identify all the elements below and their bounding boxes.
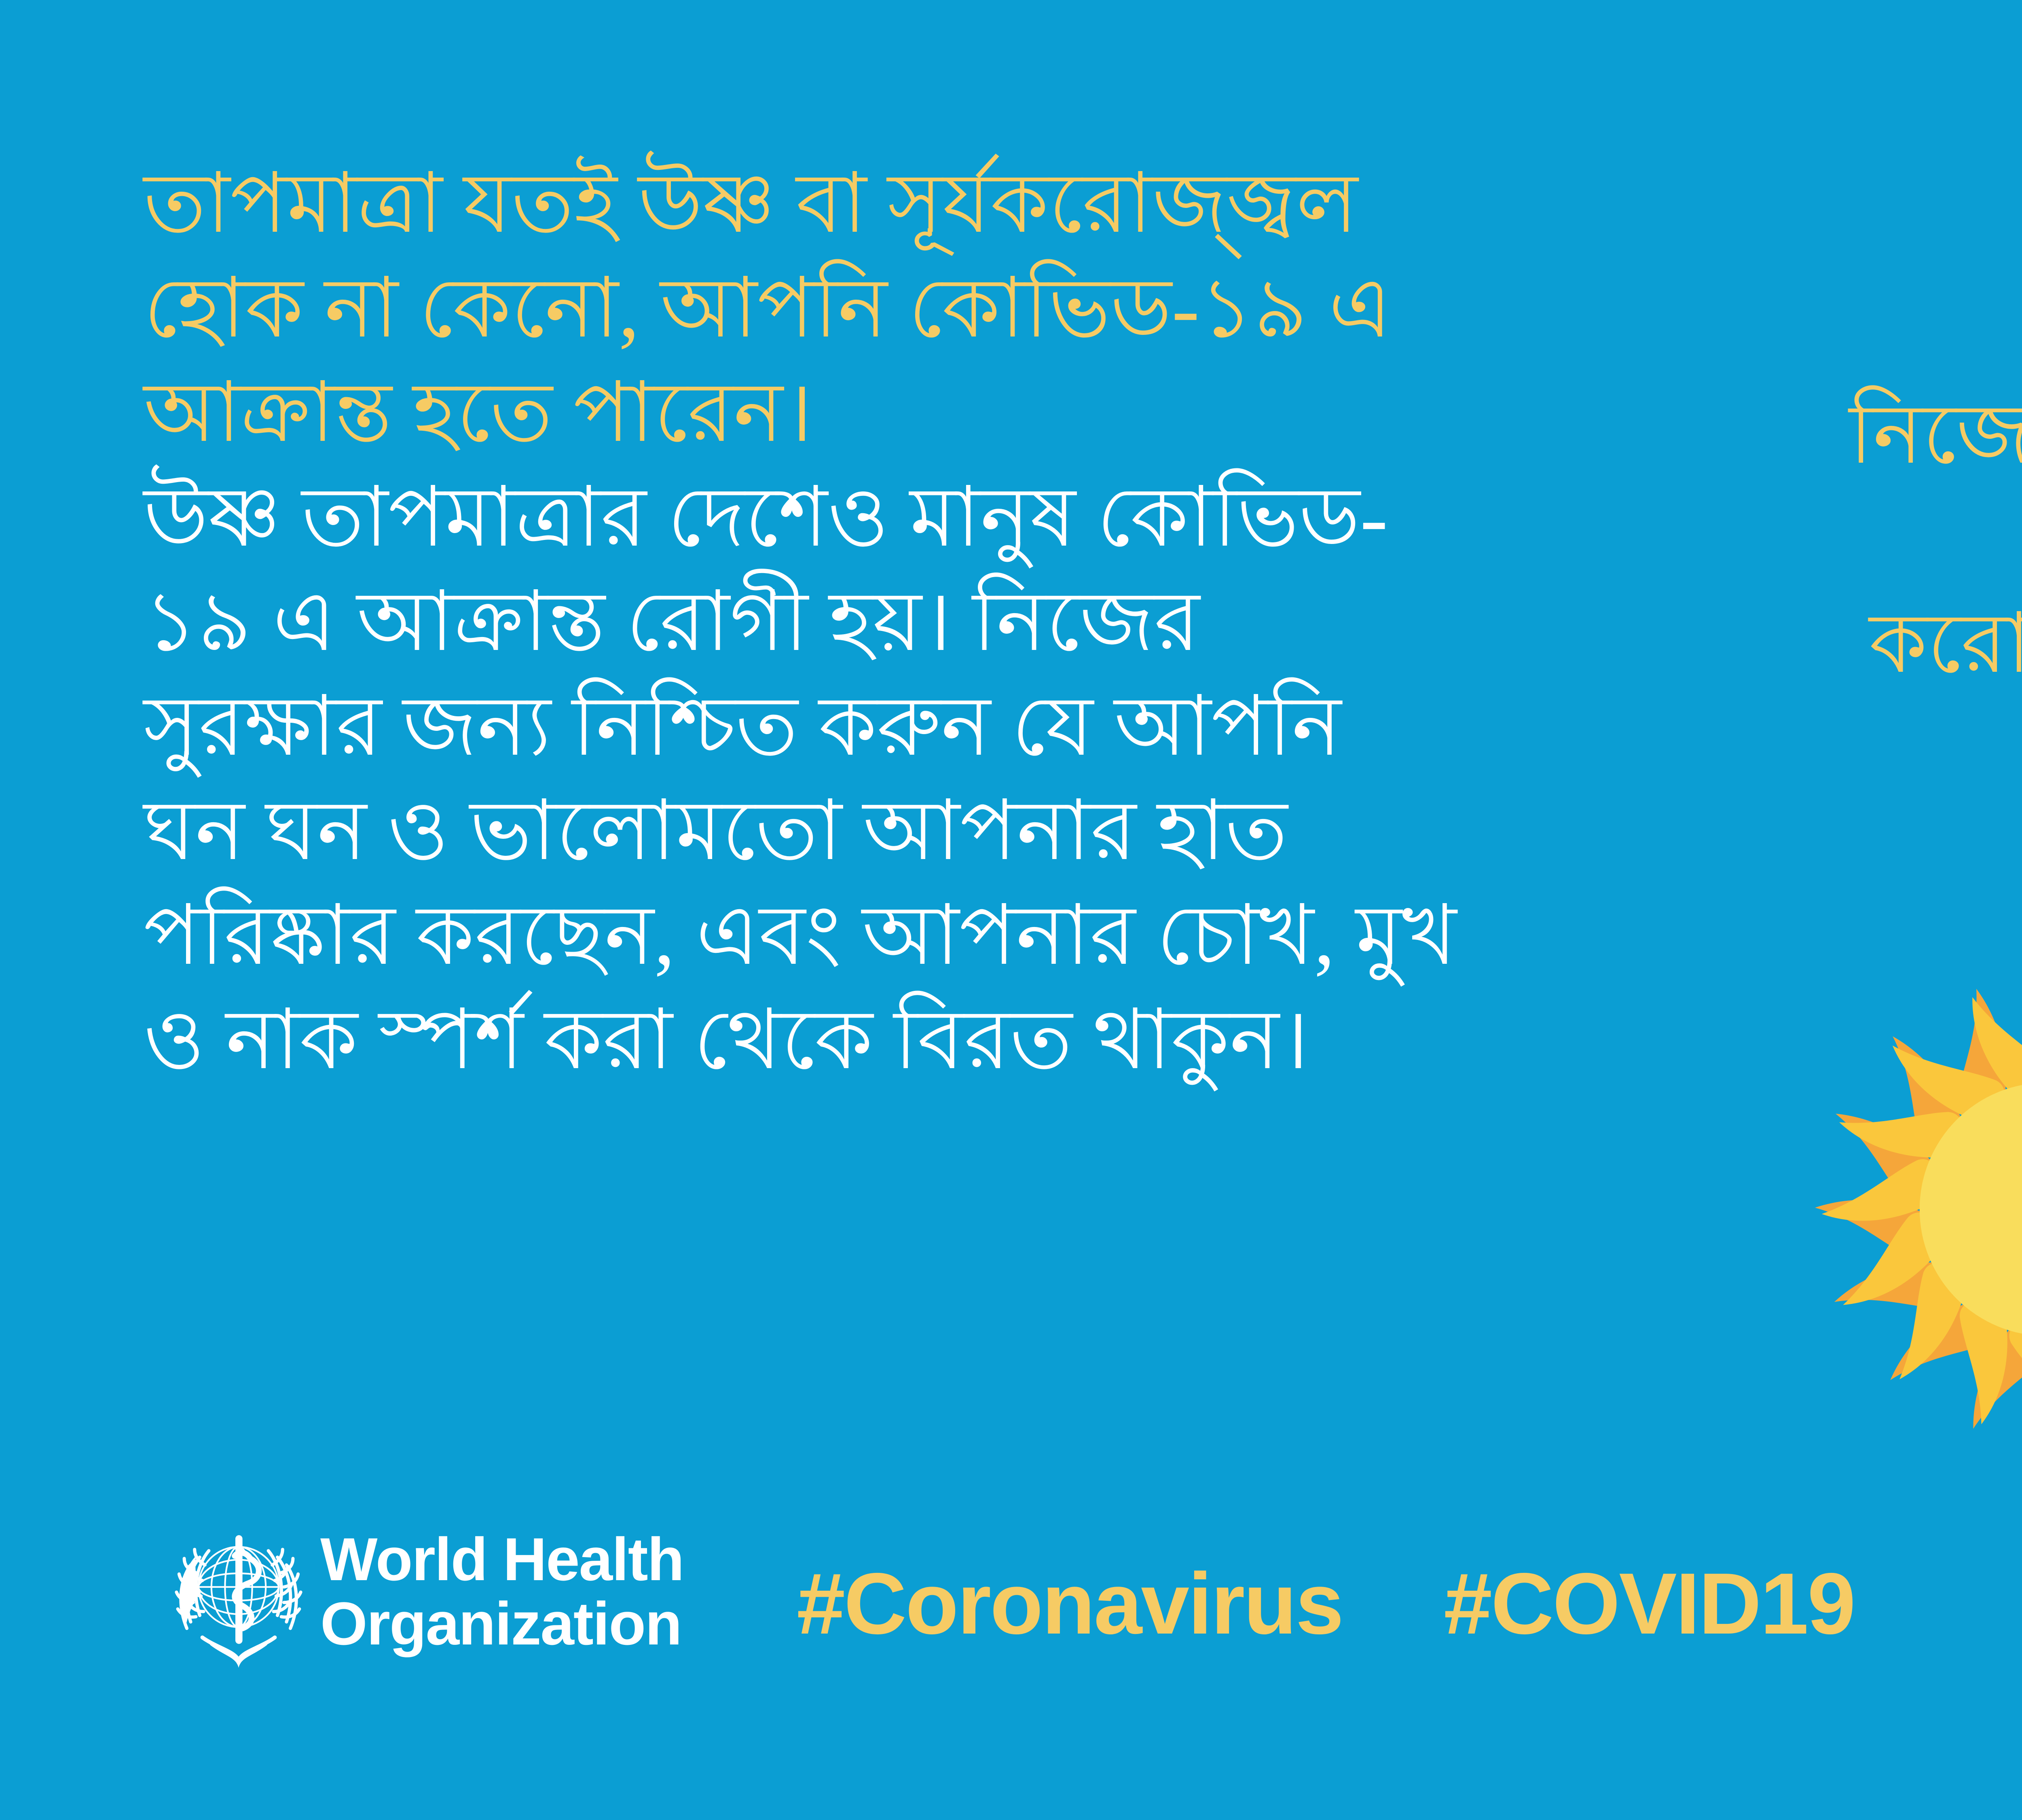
sun-icon [1812,975,2022,1444]
fact-line-2: তাপমাত্রার উপরে রাখলে [1666,487,2022,592]
myth-line-1: তাপমাত্রা যতই উষ্ণ বা সূর্যকরোজ্জ্বল [144,152,1680,256]
advice-line-2: ১৯ এ আক্রান্ত রোগী হয়। নিজের [144,570,1680,675]
footer: World Health Organization #Coronavirus #… [174,1505,1855,1678]
who-wordmark: World Health Organization [320,1527,683,1656]
advice-line-5: পরিষ্কার করছেন, এবং আপনার চোখ, মুখ [144,884,1680,988]
advice-line-1: উষ্ণ তাপমাত্রার দেশেও মানুষ কোভিড- [144,466,1680,570]
advice-line-6: ও নাক স্পর্শ করা থেকে বিরত থাকুন। [144,988,1680,1093]
right-text-column: সঠিক তথ্যঃ নিজেকে রোদের তাপে বা ২৫C ডিগ্… [1666,279,2022,801]
fact-heading: সঠিক তথ্যঃ [1666,279,2022,383]
who-covid-infographic: তাপমাত্রা যতই উষ্ণ বা সূর্যকরোজ্জ্বল হোক… [0,0,2022,1820]
hashtag-group: #Coronavirus #COVID19 [797,1529,1855,1654]
myth-line-2: হোক না কেনো, আপনি কোভিড-১৯ এ [144,256,1680,361]
who-emblem-icon [174,1511,303,1672]
who-logo: World Health Organization [174,1505,683,1678]
advice-line-3: সুরক্ষার জন্য নিশ্চিত করুন যে আপনি [144,675,1680,779]
hashtag-coronavirus[interactable]: #Coronavirus [797,1553,1343,1654]
fact-line-1: নিজেকে রোদের তাপে বা ২৫C ডিগ্রীর [1666,383,2022,487]
left-text-column: তাপমাত্রা যতই উষ্ণ বা সূর্যকরোজ্জ্বল হোক… [144,152,1680,1093]
fact-line-4: করা যাবে না। [1666,696,2022,801]
who-name-line-2: Organization [320,1591,683,1656]
advice-line-4: ঘন ঘন ও ভালোমতো আপনার হাত [144,779,1680,884]
fact-line-3: করোনাভাইরাসের আক্রমণ থেকে রক্ষা [1666,592,2022,696]
hashtag-covid19[interactable]: #COVID19 [1444,1553,1855,1654]
who-name-line-1: World Health [320,1527,683,1591]
myth-line-3: আক্রান্ত হতে পারেন। [144,361,1680,466]
